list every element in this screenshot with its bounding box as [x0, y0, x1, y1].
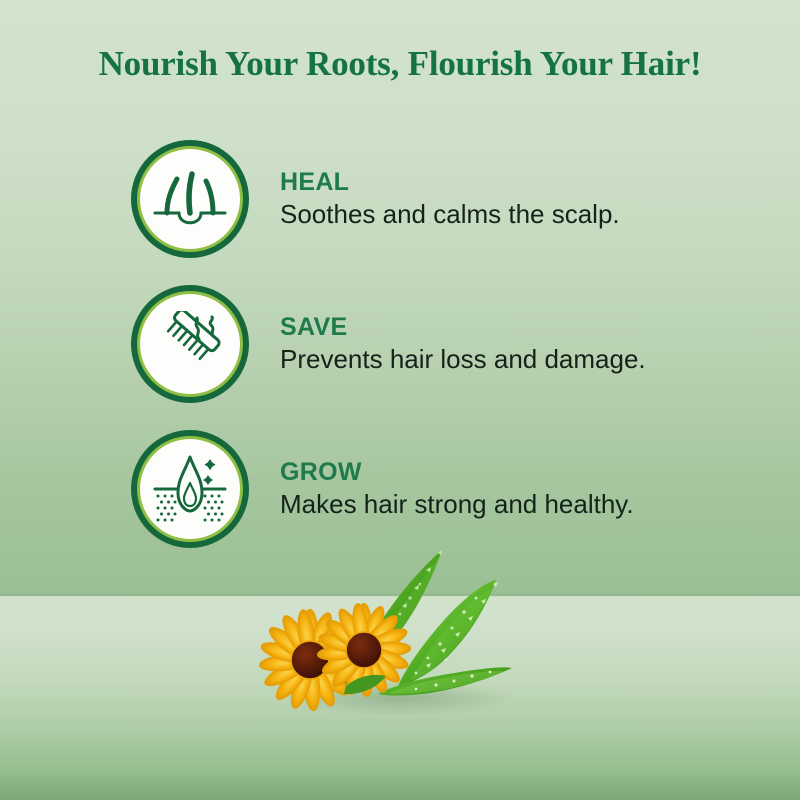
- comb-hair-icon: [154, 311, 226, 377]
- feature-icon-badge: [131, 285, 249, 403]
- hair-follicle-strands-icon: [153, 170, 227, 228]
- badge-face: [140, 149, 240, 249]
- feature-text-block: GROW Makes hair strong and healthy.: [280, 457, 800, 519]
- feature-description: Prevents hair loss and damage.: [280, 345, 800, 374]
- feature-text-block: HEAL Soothes and calms the scalp.: [280, 167, 800, 229]
- feature-row: HEAL Soothes and calms the scalp.: [0, 126, 800, 271]
- feature-icon-badge: [131, 140, 249, 258]
- feature-text-block: SAVE Prevents hair loss and damage.: [280, 312, 800, 374]
- follicle-scalp-sparkle-icon: [152, 453, 228, 525]
- feature-description: Soothes and calms the scalp.: [280, 200, 800, 229]
- badge-face: [140, 294, 240, 394]
- badge-face: [140, 439, 240, 539]
- feature-row: SAVE Prevents hair loss and damage.: [0, 271, 800, 416]
- feature-description: Makes hair strong and healthy.: [280, 490, 800, 519]
- page-title: Nourish Your Roots, Flourish Your Hair!: [0, 44, 800, 84]
- poster-canvas: Nourish Your Roots, Flourish Your Hair!: [0, 0, 800, 800]
- feature-title: SAVE: [280, 314, 800, 341]
- aloe-vera-and-sunflowers-image: [250, 540, 550, 725]
- feature-list: HEAL Soothes and calms the scalp.: [0, 126, 800, 561]
- feature-title: HEAL: [280, 169, 800, 196]
- feature-title: GROW: [280, 459, 800, 486]
- feature-icon-badge: [131, 430, 249, 548]
